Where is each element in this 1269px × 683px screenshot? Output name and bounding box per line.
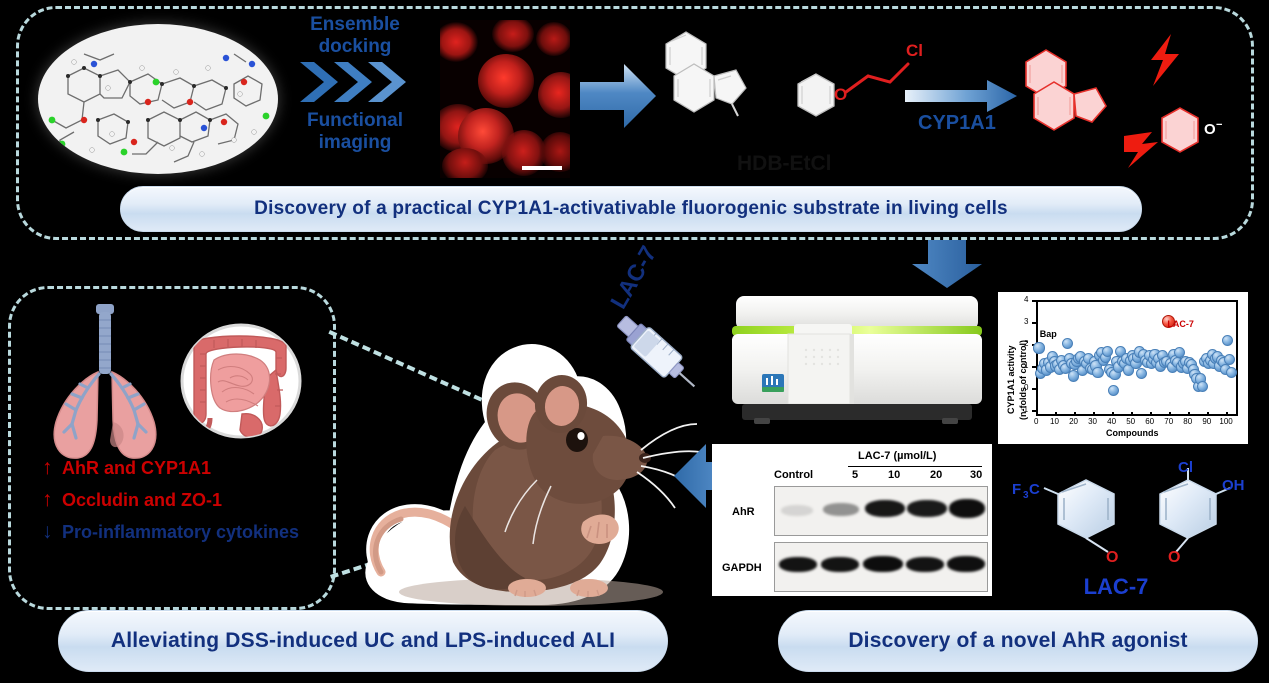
- blot-band: [781, 505, 813, 516]
- blot-panel-gapdh: [774, 542, 988, 592]
- x-tick: [1093, 412, 1095, 416]
- blot-lane-label: Control: [774, 469, 813, 481]
- top-banner: Discovery of a practical CYP1A1-activati…: [120, 186, 1142, 232]
- cyp1a1-reaction-arrow: [905, 78, 1017, 114]
- x-tick-label: 60: [1145, 417, 1154, 426]
- scale-bar: [522, 166, 562, 170]
- x-tick-label: 10: [1050, 417, 1059, 426]
- blot-band: [947, 556, 985, 572]
- y-tick-label: 1: [1024, 361, 1028, 370]
- x-tick: [1226, 412, 1228, 416]
- graphical-abstract: Ensemble docking Functional imaging: [0, 0, 1269, 683]
- western-blot: LAC-7 (µmol/L) Control 5 10 20 30 AhR GA…: [712, 444, 992, 596]
- x-tick-label: 30: [1088, 417, 1097, 426]
- fluorescence-bolt-icon: [1145, 34, 1185, 92]
- fluorescent-cell: [536, 22, 570, 56]
- bottom-right-banner: Discovery of a novel AhR agonist: [778, 610, 1258, 672]
- cyp1a1-enzyme-label: CYP1A1: [918, 112, 996, 135]
- up-arrow-icon: ↑: [42, 488, 62, 512]
- docked-molecules-svg: [38, 24, 278, 174]
- lungs-illustration: [30, 300, 180, 468]
- left-benzene-ring: [1058, 480, 1114, 538]
- blot-band: [863, 556, 903, 572]
- blot-band: [907, 500, 947, 517]
- y-tick-label: 0: [1024, 383, 1028, 392]
- chart-xlabel: Compounds: [1106, 428, 1159, 438]
- intestine-illustration: [180, 322, 302, 440]
- microplate-reader: [728, 288, 986, 430]
- effects-list: ↑ AhR and CYP1A1 ↑ Occludin and ZO-1 ↓ P…: [42, 452, 312, 548]
- functional-imaging-line2: imaging: [294, 132, 416, 154]
- x-tick: [1207, 412, 1209, 416]
- down-arrow-icon: ↓: [42, 520, 62, 544]
- oxygen-left-label: O: [1106, 549, 1118, 566]
- functional-imaging-label: Functional imaging: [294, 110, 416, 154]
- y-tick-label: 3: [1024, 317, 1028, 326]
- blot-lane-label: 10: [888, 469, 900, 481]
- chart-annotations: BapLAC-7: [1036, 300, 1234, 412]
- x-tick-label: 50: [1126, 417, 1135, 426]
- chart-annotation: LAC-7: [1167, 319, 1194, 329]
- y-tick-label: -1: [1021, 405, 1028, 414]
- x-tick: [1150, 412, 1152, 416]
- x-tick: [1055, 412, 1057, 416]
- effect-item: ↑ AhR and CYP1A1: [42, 452, 312, 484]
- fluorescent-cell: [478, 54, 534, 108]
- phenolate-charge-label: −: [1216, 119, 1222, 131]
- blue-arrow-to-substrate: [580, 60, 656, 132]
- syringe-icon: [600, 296, 710, 406]
- substrate-name-label: HDB-EtCl: [737, 152, 832, 176]
- blot-group-underline: [848, 466, 982, 467]
- blot-lane-label: 20: [930, 469, 942, 481]
- blot-band: [865, 500, 905, 517]
- cyp1a1-screening-chart: CYP1A1 activity (n-folds of control) Com…: [998, 292, 1248, 444]
- chart-annotation: Bap: [1040, 329, 1057, 339]
- blot-band: [823, 503, 859, 516]
- x-tick: [1074, 412, 1076, 416]
- x-tick: [1036, 412, 1038, 416]
- phenolate-product-structure: O −: [1152, 96, 1244, 170]
- blot-band: [906, 557, 944, 572]
- blot-band: [779, 557, 817, 572]
- blot-group-header: LAC-7 (µmol/L): [858, 450, 936, 462]
- x-tick: [1169, 412, 1171, 416]
- phenolate-oxygen-label: O: [1204, 121, 1216, 138]
- x-tick-label: 40: [1107, 417, 1116, 426]
- ensemble-docking-label: Ensemble docking: [296, 14, 414, 58]
- ensemble-docking-line1: Ensemble: [296, 14, 414, 36]
- x-tick-label: 100: [1219, 417, 1232, 426]
- y-tick-label: 4: [1024, 295, 1028, 304]
- compound-name-label: LAC-7: [1084, 574, 1149, 599]
- cf3-carbon: C: [1029, 481, 1040, 498]
- cf3-group-label: F: [1012, 481, 1021, 498]
- top-banner-text: Discovery of a practical CYP1A1-activati…: [254, 198, 1008, 220]
- oxygen-right-label: O: [1168, 549, 1180, 566]
- x-tick-label: 80: [1183, 417, 1192, 426]
- blot-row-label-ahr: AhR: [732, 506, 755, 518]
- x-tick-label: 20: [1069, 417, 1078, 426]
- ensemble-docking-ellipse: [38, 24, 278, 174]
- hydroxyl-substituent-label: OH: [1222, 477, 1245, 494]
- fluorescent-cell: [538, 72, 570, 118]
- oxygen-label: O: [834, 85, 847, 104]
- ensemble-docking-line2: docking: [296, 36, 414, 58]
- fluorescent-cell: [440, 22, 478, 62]
- blot-row-label-gapdh: GAPDH: [722, 562, 762, 574]
- y-tick-label: 2: [1024, 339, 1028, 348]
- x-tick-label: 70: [1164, 417, 1173, 426]
- effect-label: Pro-inflammatory cytokines: [62, 522, 299, 543]
- functional-imaging-line1: Functional: [294, 110, 416, 132]
- right-benzene-ring: [1160, 480, 1216, 538]
- confocal-fluorescence-image: [440, 20, 570, 178]
- fluorescence-bolt-icon: [1118, 128, 1162, 172]
- chlorine-label: Cl: [906, 41, 923, 60]
- x-tick-label: 90: [1202, 417, 1211, 426]
- blot-lane-label: 5: [852, 469, 858, 481]
- x-tick-label: 0: [1034, 417, 1038, 426]
- fluorescent-cell: [442, 148, 488, 178]
- lac7-structure-panel: F 3 C Cl OH O O LAC-7: [998, 452, 1248, 604]
- effect-label: Occludin and ZO-1: [62, 490, 222, 511]
- chevron-arrows-icon: [300, 60, 412, 104]
- substrate-structure-hdb: [648, 24, 766, 134]
- up-arrow-icon: ↑: [42, 456, 62, 480]
- bottom-left-banner: Alleviating DSS-induced UC and LPS-induc…: [58, 610, 668, 672]
- blot-band: [949, 499, 985, 518]
- chlorine-substituent-label: Cl: [1178, 459, 1193, 476]
- effect-label: AhR and CYP1A1: [62, 458, 211, 479]
- blot-panel-ahr: [774, 486, 988, 536]
- effect-item: ↑ Occludin and ZO-1: [42, 484, 312, 516]
- blot-band: [821, 557, 859, 572]
- fluorescent-cell: [492, 20, 534, 52]
- chart-ylabel-line1: CYP1A1 activity: [1006, 345, 1016, 414]
- x-tick: [1188, 412, 1190, 416]
- bottom-right-banner-text: Discovery of a novel AhR agonist: [848, 629, 1187, 653]
- x-tick: [1112, 412, 1114, 416]
- bottom-left-banner-text: Alleviating DSS-induced UC and LPS-induc…: [111, 629, 615, 653]
- x-tick: [1131, 412, 1133, 416]
- effect-item: ↓ Pro-inflammatory cytokines: [42, 516, 312, 548]
- down-arrow-to-assay: [910, 240, 984, 288]
- blot-lane-label: 30: [970, 469, 982, 481]
